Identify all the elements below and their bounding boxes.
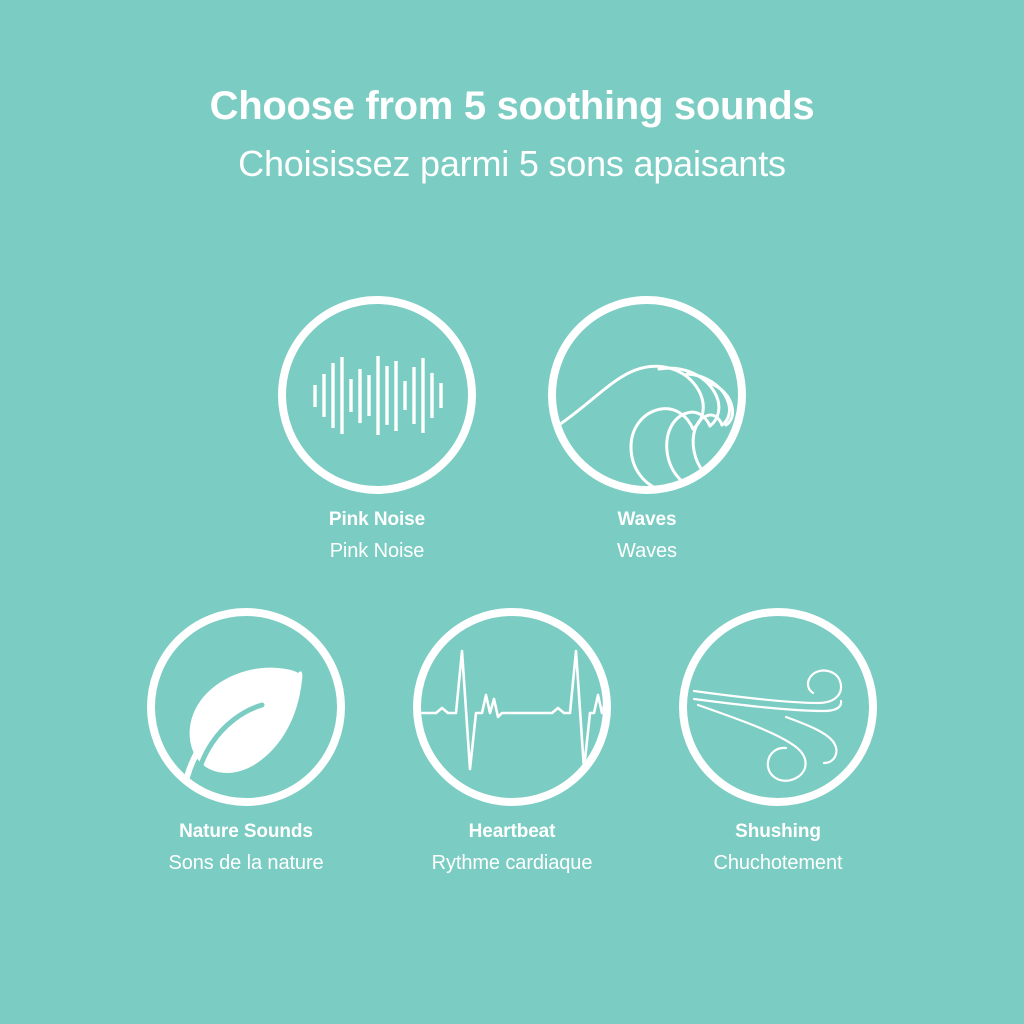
page-title: Choose from 5 soothing sounds xyxy=(0,86,1024,126)
sound-card-shushing[interactable]: Shushing Chuchotement xyxy=(678,607,878,873)
header: Choose from 5 soothing sounds Choisissez… xyxy=(0,86,1024,182)
sound-label-fr: Waves xyxy=(617,541,677,561)
sound-row-top: Pink Noise Pink Noise xyxy=(0,295,1024,561)
sound-label-en: Nature Sounds xyxy=(179,822,313,841)
sound-label-en: Heartbeat xyxy=(469,822,556,841)
wave-icon xyxy=(547,295,747,495)
sound-label-en: Pink Noise xyxy=(329,510,425,529)
page-subtitle: Choisissez parmi 5 sons apaisants xyxy=(0,146,1024,182)
leaf-icon xyxy=(146,607,346,807)
promo-card: Choose from 5 soothing sounds Choisissez… xyxy=(0,0,1024,1024)
sound-label-fr: Pink Noise xyxy=(330,541,425,561)
sound-card-heartbeat[interactable]: Heartbeat Rythme cardiaque xyxy=(412,607,612,873)
wind-icon xyxy=(678,607,878,807)
sound-card-pink-noise[interactable]: Pink Noise Pink Noise xyxy=(277,295,477,561)
sound-label-fr: Sons de la nature xyxy=(168,853,323,873)
sound-label-en: Shushing xyxy=(735,822,821,841)
sound-label-en: Waves xyxy=(618,510,677,529)
sound-card-waves[interactable]: Waves Waves xyxy=(547,295,747,561)
sound-label-fr: Chuchotement xyxy=(714,853,843,873)
heartbeat-icon xyxy=(412,607,612,807)
waveform-icon xyxy=(277,295,477,495)
sound-card-nature-sounds[interactable]: Nature Sounds Sons de la nature xyxy=(146,607,346,873)
sound-row-bottom: Nature Sounds Sons de la nature Hear xyxy=(0,607,1024,873)
sound-label-fr: Rythme cardiaque xyxy=(432,853,593,873)
